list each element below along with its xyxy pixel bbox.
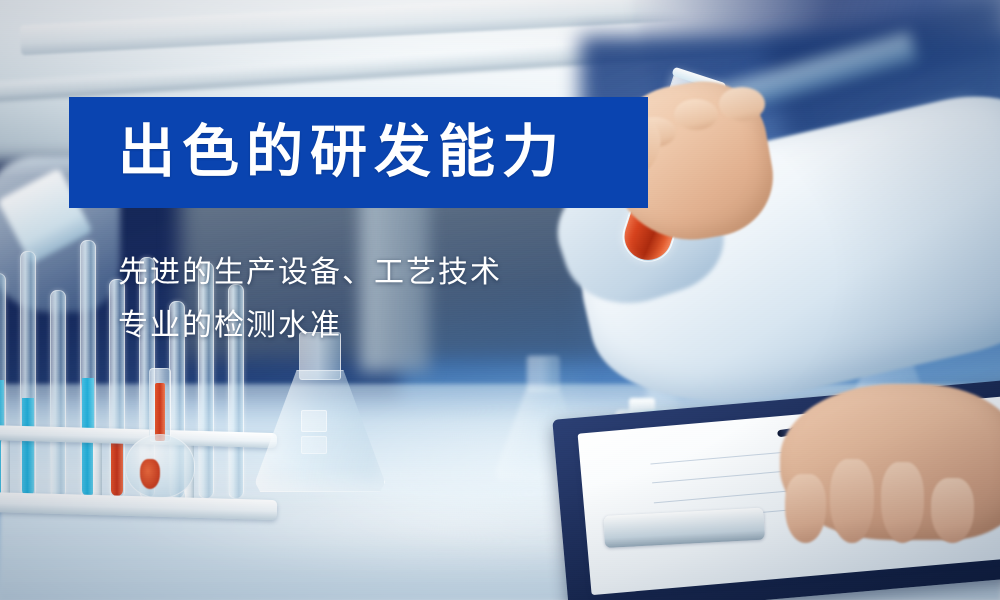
subtitle-line-2: 专业的检测水准 — [118, 299, 502, 352]
page-title: 出色的研发能力 — [118, 124, 566, 181]
headline-banner-block: 出色的研发能力 — [69, 97, 648, 208]
subtitle-block: 先进的生产设备、工艺技术 专业的检测水准 — [118, 246, 502, 352]
subtitle-line-1: 先进的生产设备、工艺技术 — [118, 246, 502, 299]
lab-hero-banner: 出色的研发能力 先进的生产设备、工艺技术 专业的检测水准 — [0, 0, 1000, 600]
